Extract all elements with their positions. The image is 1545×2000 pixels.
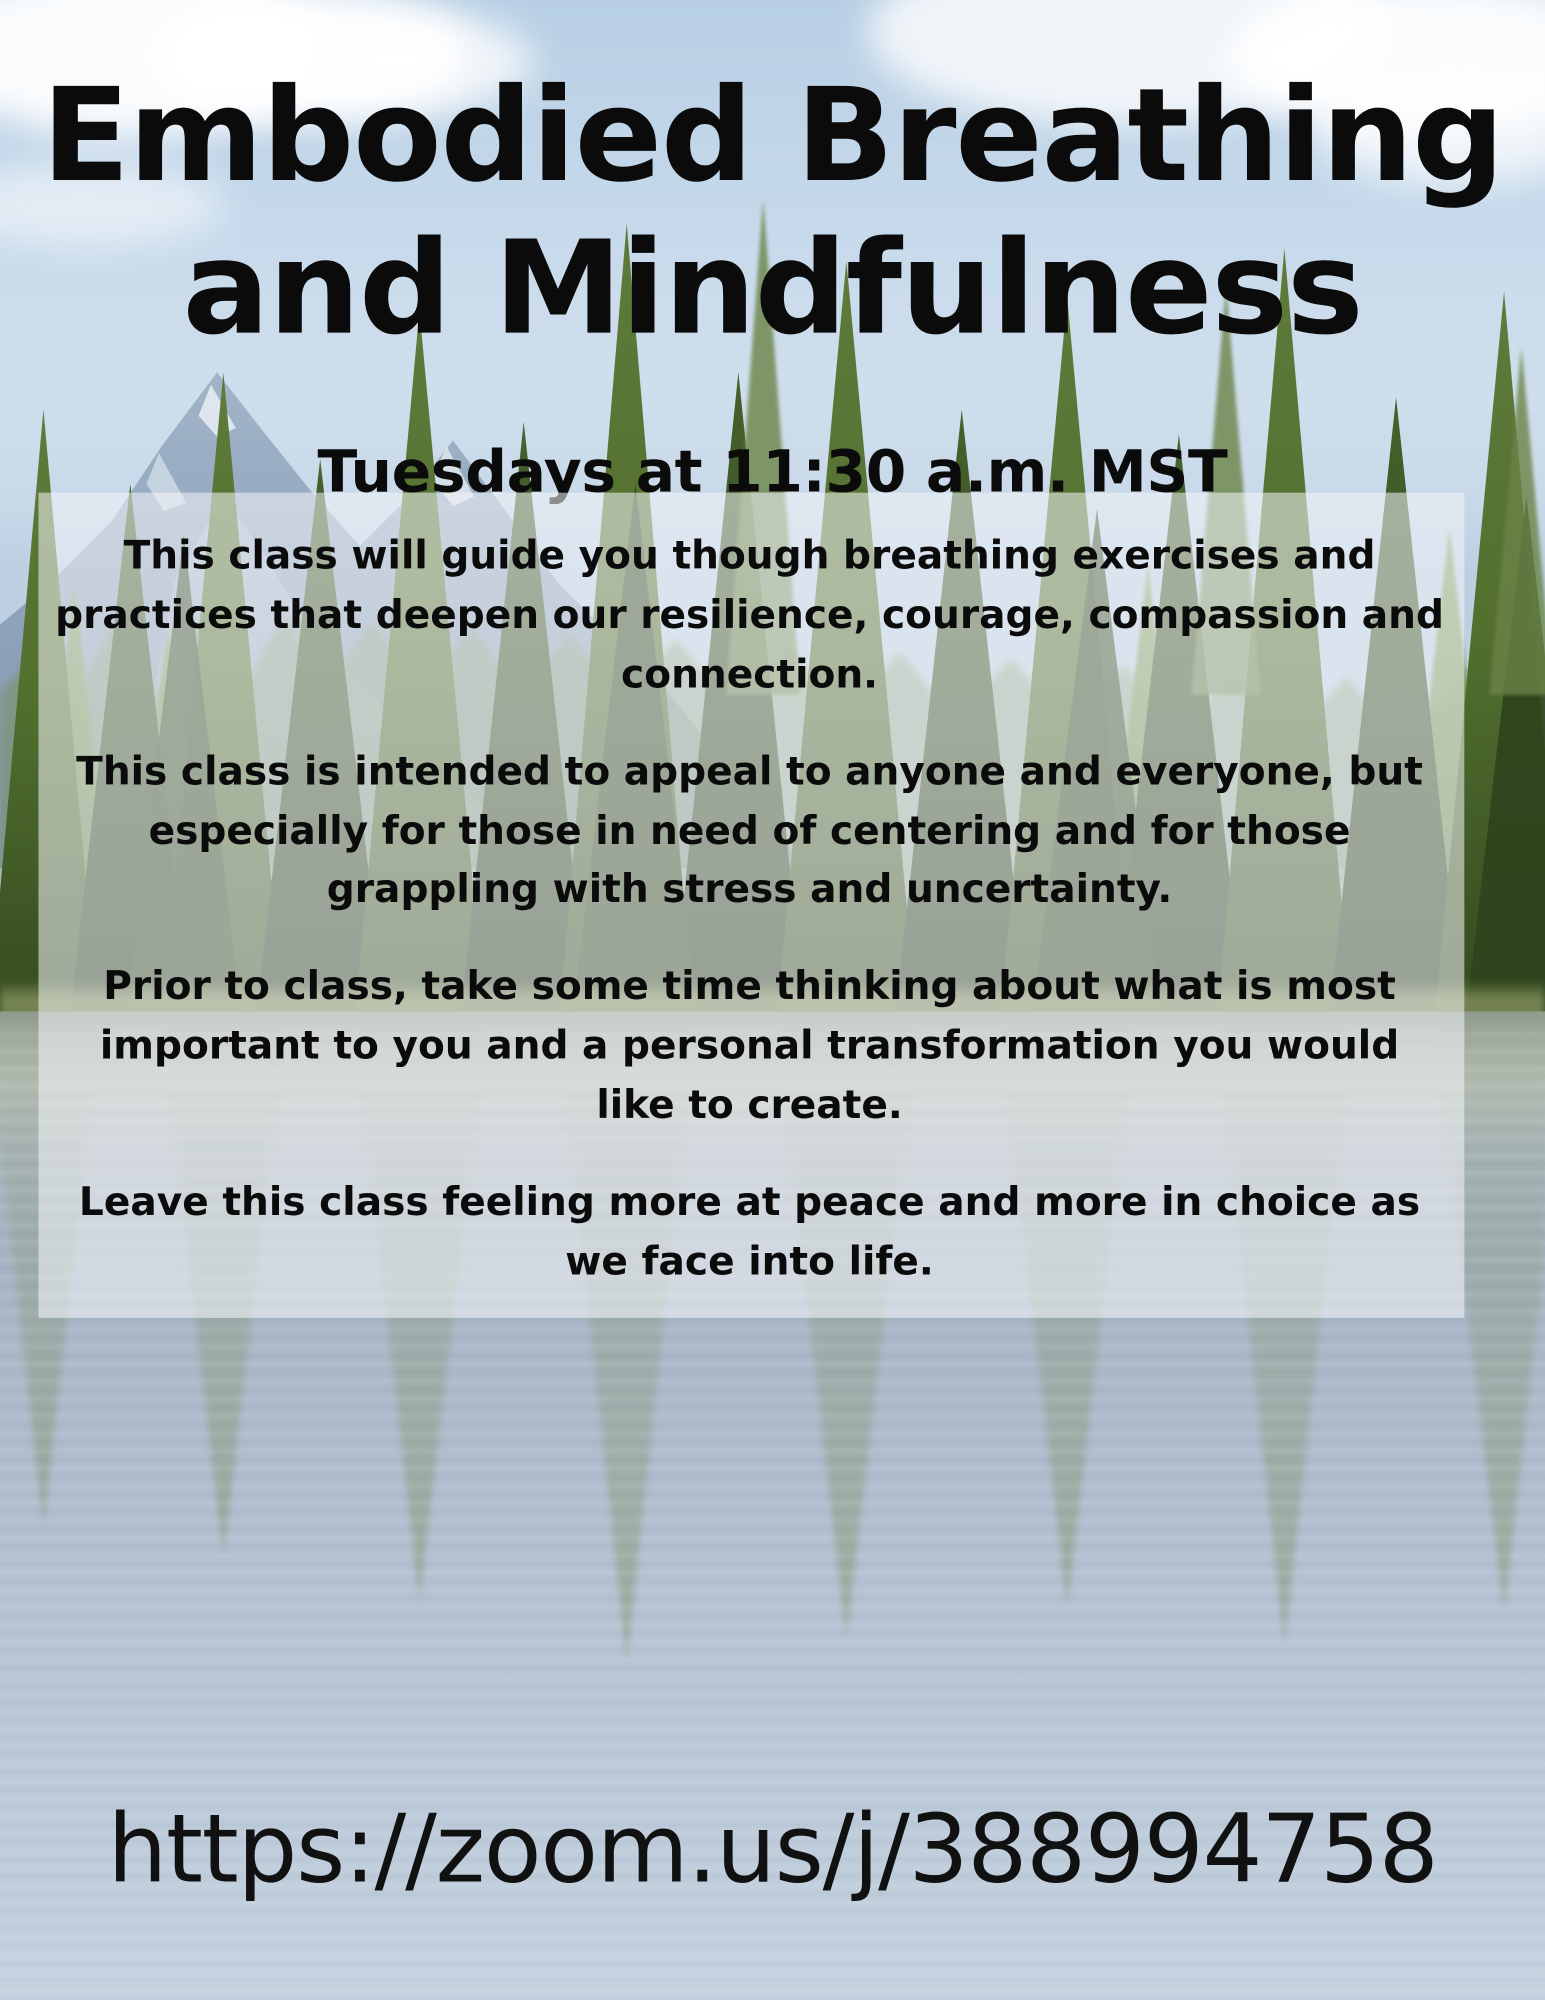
page-title: Embodied Breathing and Mindfulness — [37, 60, 1508, 365]
poster-content: Embodied Breathing and Mindfulness Tuesd… — [0, 0, 1545, 2000]
description-text: This class will guide you though breathi… — [55, 527, 1445, 1292]
paragraph: Leave this class feeling more at peace a… — [55, 1174, 1445, 1293]
poster-canvas: Embodied Breathing and Mindfulness Tuesd… — [0, 0, 1545, 2000]
paragraph: Prior to class, take some time thinking … — [55, 958, 1445, 1136]
paragraph: This class is intended to appeal to anyo… — [55, 743, 1445, 921]
paragraph: This class will guide you though breathi… — [55, 527, 1445, 705]
zoom-meeting-link[interactable]: https://zoom.us/j/388994758 — [37, 1793, 1508, 1903]
